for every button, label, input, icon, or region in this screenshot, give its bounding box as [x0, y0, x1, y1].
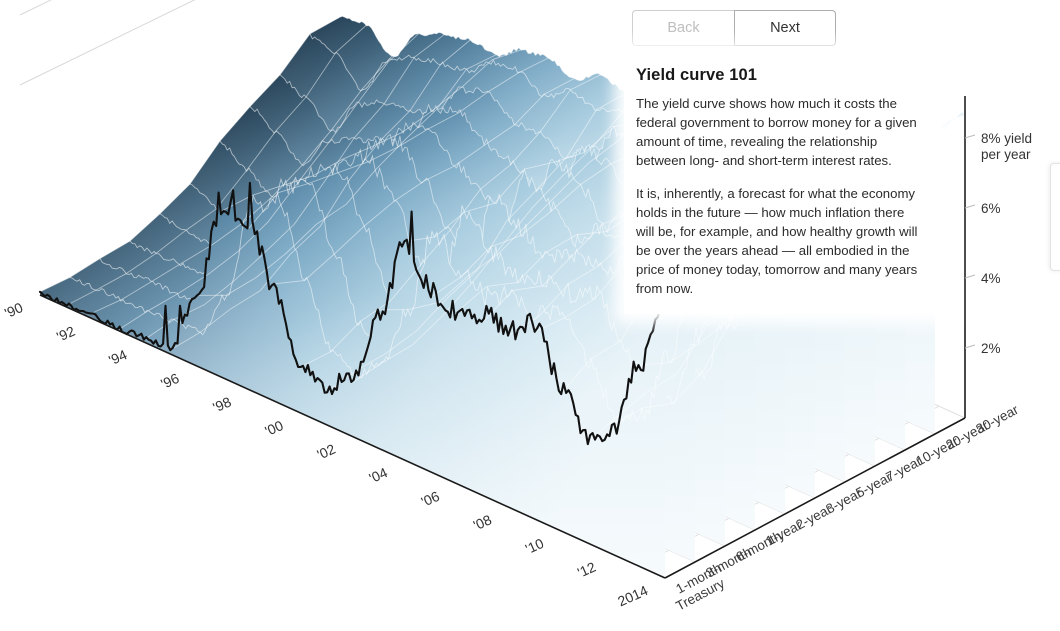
year-tick-label: '92 — [54, 323, 77, 345]
visualization-stage: '90'92'94'96'98'00'02'04'06'08'10'122014… — [0, 0, 1060, 631]
year-tick-label: '02 — [315, 441, 338, 463]
nav-buttons: Back Next — [632, 10, 836, 46]
panel-title: Yield curve 101 — [636, 66, 926, 85]
yield-tick-label: 8% yield — [981, 131, 1032, 146]
back-button[interactable]: Back — [632, 10, 734, 46]
year-tick-label: '96 — [158, 370, 181, 392]
year-tick-label: '06 — [419, 488, 442, 510]
year-tick-label: '12 — [575, 558, 598, 580]
yield-tick-label: 6% — [981, 201, 1001, 216]
panel-paragraph-2: It is, inherently, a forecast for what t… — [636, 184, 926, 299]
year-tick-label: 2014 — [615, 582, 650, 609]
panel-paragraph-1: The yield curve shows how much it costs … — [636, 94, 926, 171]
year-tick-label: '94 — [106, 346, 129, 368]
year-tick-label: '04 — [367, 464, 390, 486]
year-tick-label: '08 — [471, 511, 494, 533]
yield-tick-label: 2% — [981, 341, 1001, 356]
maturity-tick-label: 30-year — [973, 402, 1021, 437]
next-button[interactable]: Next — [734, 10, 836, 46]
annotation-panel: Yield curve 101 The yield curve shows ho… — [624, 52, 942, 314]
yield-axis-caption: per year — [981, 147, 1031, 162]
yield-tick-label: 4% — [981, 271, 1001, 286]
year-tick-label: '98 — [210, 393, 233, 415]
yield-axis-labels: 8% yieldper year6%4%2% — [965, 131, 1032, 356]
year-tick-label: '00 — [262, 417, 285, 439]
next-card-edge[interactable] — [1050, 163, 1060, 271]
year-tick-label: '10 — [523, 535, 546, 557]
year-tick-label: '90 — [2, 299, 25, 321]
